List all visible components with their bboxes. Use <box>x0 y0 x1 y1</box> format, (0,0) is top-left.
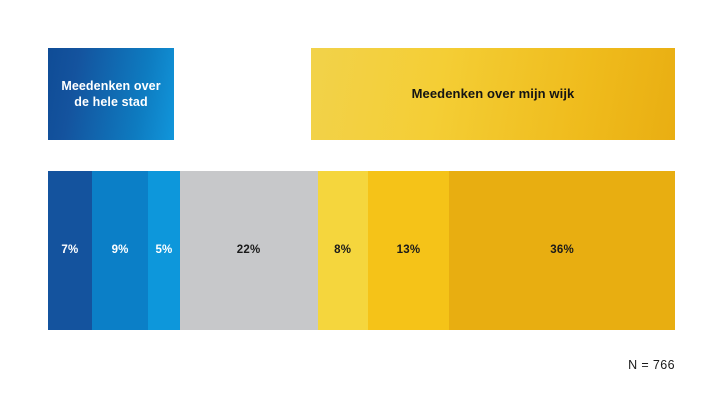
legend-banner-mijn-wijk: Meedenken over mijn wijk <box>311 48 675 140</box>
bar-segment-label: 36% <box>550 245 574 257</box>
legend-banner-mijn-wijk-label: Meedenken over mijn wijk <box>412 86 575 103</box>
bar-segment-label: 8% <box>334 245 351 257</box>
legend-banner-hele-stad: Meedenken over de hele stad <box>48 48 174 140</box>
bar-segment-label: 22% <box>237 245 261 257</box>
bar-segment-hele-stad-9: 9% <box>92 171 148 330</box>
stacked-bar: 7%9%5%22%8%13%36% <box>48 171 675 330</box>
bar-segment-hele-stad-7: 7% <box>48 171 92 330</box>
bar-segment-mijn-wijk-13: 13% <box>368 171 450 330</box>
legend-banner-hele-stad-label: Meedenken over de hele stad <box>61 78 160 110</box>
bar-segment-label: 5% <box>155 245 172 257</box>
bar-segment-label: 9% <box>112 245 129 257</box>
bar-segment-neutraal-22: 22% <box>180 171 318 330</box>
chart-canvas: Meedenken over de hele stad Meedenken ov… <box>0 0 720 405</box>
bar-segment-mijn-wijk-8: 8% <box>318 171 368 330</box>
sample-size-note: N = 766 <box>628 358 675 372</box>
bar-segment-hele-stad-5: 5% <box>148 171 179 330</box>
bar-segment-label: 13% <box>397 245 421 257</box>
bar-segment-label: 7% <box>61 245 78 257</box>
bar-segment-mijn-wijk-36: 36% <box>449 171 675 330</box>
